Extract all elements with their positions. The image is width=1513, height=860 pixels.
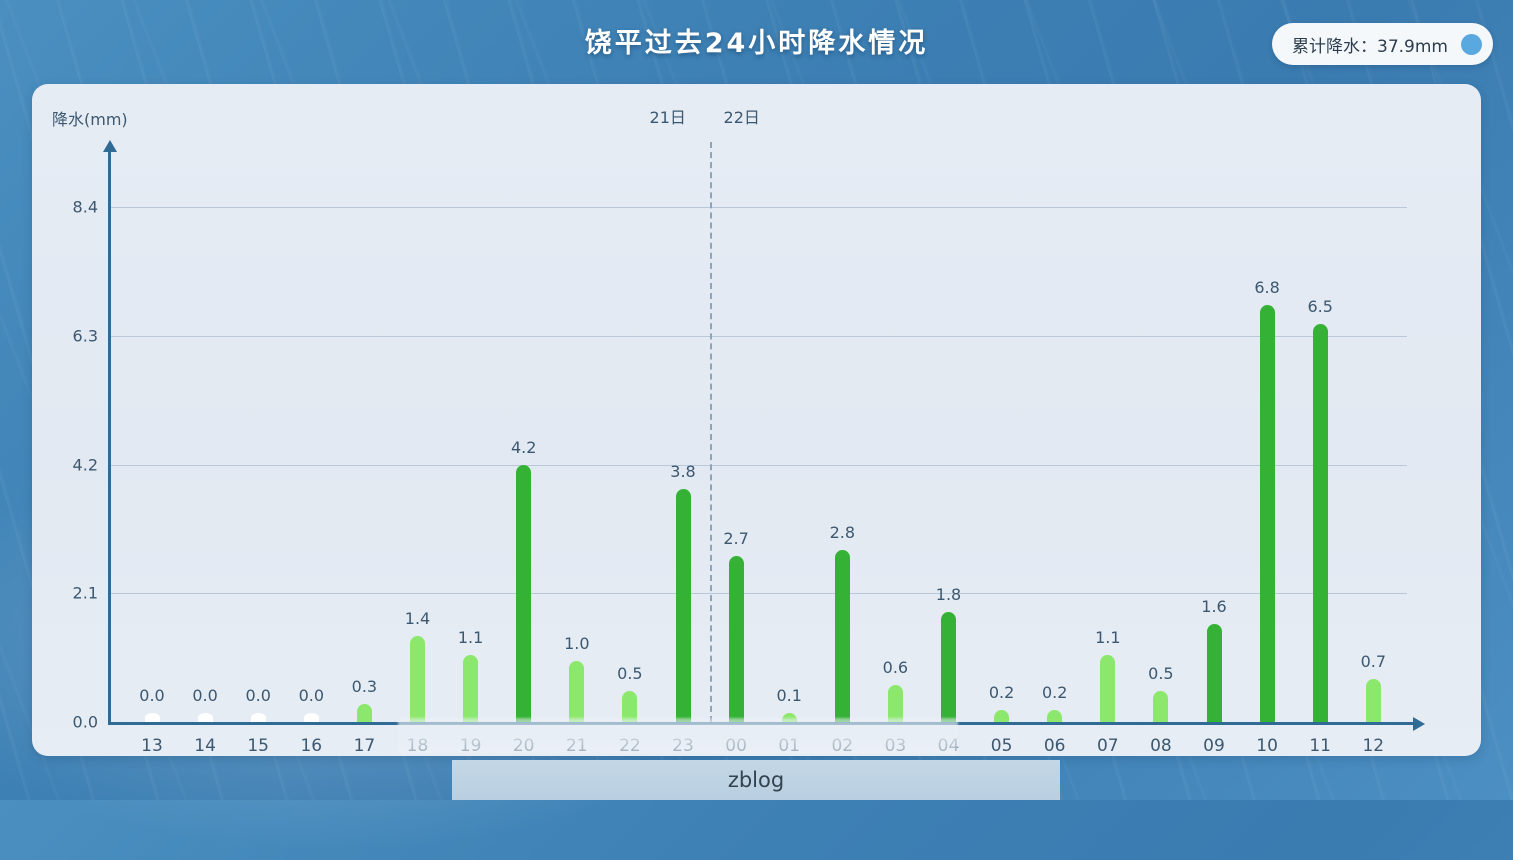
y-axis-tick-label: 0.0 xyxy=(38,713,98,732)
x-axis-tick-label[interactable]: 09 xyxy=(1203,736,1225,756)
bar-value-label: 0.7 xyxy=(1361,652,1386,671)
bar-value-label: 2.8 xyxy=(830,523,855,542)
y-axis-tick-label: 8.4 xyxy=(38,198,98,217)
x-axis-tick-label[interactable]: 13 xyxy=(141,736,163,756)
bar[interactable] xyxy=(198,713,213,722)
y-axis-tick-label: 2.1 xyxy=(38,584,98,603)
bar-value-label: 0.6 xyxy=(883,658,908,677)
bar[interactable] xyxy=(1047,710,1062,722)
x-axis-tick-label[interactable]: 19 xyxy=(460,736,482,756)
x-axis-tick-label[interactable]: 22 xyxy=(619,736,641,756)
bar[interactable] xyxy=(304,713,319,722)
y-axis-line xyxy=(108,150,111,724)
x-axis-tick-label[interactable]: 14 xyxy=(194,736,216,756)
bar[interactable] xyxy=(941,612,956,722)
bar-value-label: 0.0 xyxy=(192,686,217,705)
x-axis-tick-label[interactable]: 02 xyxy=(831,736,853,756)
cumulative-precipitation-badge[interactable]: 累计降水：37.9mm xyxy=(1272,23,1493,65)
bar[interactable] xyxy=(251,713,266,722)
bar[interactable] xyxy=(622,691,637,722)
bar[interactable] xyxy=(888,685,903,722)
x-axis-tick-label[interactable]: 12 xyxy=(1362,736,1384,756)
bar-value-label: 4.2 xyxy=(511,438,536,457)
x-axis-tick-label[interactable]: 17 xyxy=(354,736,376,756)
bar[interactable] xyxy=(782,713,797,722)
bar-value-label: 0.5 xyxy=(1148,664,1173,683)
x-axis-tick-label[interactable]: 08 xyxy=(1150,736,1172,756)
bar[interactable] xyxy=(994,710,1009,722)
x-axis-tick-label[interactable]: 21 xyxy=(566,736,588,756)
x-axis-tick-label[interactable]: 07 xyxy=(1097,736,1119,756)
bar[interactable] xyxy=(1100,655,1115,722)
bar-value-label: 0.0 xyxy=(139,686,164,705)
gridline xyxy=(108,336,1407,337)
cumulative-precipitation-label: 累计降水：37.9mm xyxy=(1292,32,1448,57)
precipitation-bar-chart: 0.02.14.26.38.421日22日0.0130.0140.0150.01… xyxy=(32,84,1481,756)
bar-value-label: 1.1 xyxy=(1095,628,1120,647)
chart-panel: 降水(mm) 0.02.14.26.38.421日22日0.0130.0140.… xyxy=(32,84,1481,756)
day-label-right: 22日 xyxy=(724,104,760,128)
x-axis-tick-label[interactable]: 23 xyxy=(672,736,694,756)
x-axis-tick-label[interactable]: 18 xyxy=(407,736,429,756)
bar[interactable] xyxy=(569,661,584,722)
x-axis-tick-label[interactable]: 15 xyxy=(247,736,269,756)
bar-value-label: 0.1 xyxy=(776,686,801,705)
bar-value-label: 0.0 xyxy=(245,686,270,705)
bar-value-label: 0.2 xyxy=(989,683,1014,702)
bar-value-label: 6.5 xyxy=(1307,297,1332,316)
bar[interactable] xyxy=(357,704,372,722)
bar-value-label: 0.0 xyxy=(299,686,324,705)
x-axis-tick-label[interactable]: 20 xyxy=(513,736,535,756)
bar[interactable] xyxy=(1153,691,1168,722)
bar[interactable] xyxy=(410,636,425,722)
bar[interactable] xyxy=(1366,679,1381,722)
watermark-banner: zblog xyxy=(452,760,1060,800)
bar[interactable] xyxy=(145,713,160,722)
gridline xyxy=(108,465,1407,466)
bar-value-label: 1.1 xyxy=(458,628,483,647)
x-axis-tick-label[interactable]: 01 xyxy=(778,736,800,756)
bar[interactable] xyxy=(676,489,691,722)
day-label-left: 21日 xyxy=(650,104,686,128)
bar-value-label: 1.0 xyxy=(564,634,589,653)
bar-value-label: 1.6 xyxy=(1201,597,1226,616)
x-axis-tick-label[interactable]: 11 xyxy=(1309,736,1331,756)
y-axis-arrow-icon xyxy=(103,140,117,152)
x-axis-tick-label[interactable]: 10 xyxy=(1256,736,1278,756)
bar[interactable] xyxy=(1260,305,1275,722)
x-axis-tick-label[interactable]: 05 xyxy=(991,736,1013,756)
bar-value-label: 2.7 xyxy=(723,529,748,548)
gridline xyxy=(108,207,1407,208)
x-axis-arrow-icon xyxy=(1413,717,1425,731)
bar-value-label: 0.3 xyxy=(352,677,377,696)
bar[interactable] xyxy=(463,655,478,722)
day-divider-line xyxy=(710,142,712,722)
x-axis-tick-label[interactable]: 00 xyxy=(725,736,747,756)
bar[interactable] xyxy=(516,465,531,722)
x-axis-tick-label[interactable]: 06 xyxy=(1044,736,1066,756)
gridline xyxy=(108,593,1407,594)
y-axis-tick-label: 4.2 xyxy=(38,455,98,474)
bar-value-label: 6.8 xyxy=(1254,278,1279,297)
bar-value-label: 0.2 xyxy=(1042,683,1067,702)
x-axis-line xyxy=(108,722,1413,725)
bar-value-label: 1.4 xyxy=(405,609,430,628)
y-axis-tick-label: 6.3 xyxy=(38,326,98,345)
bar[interactable] xyxy=(835,550,850,722)
bar[interactable] xyxy=(1207,624,1222,722)
x-axis-tick-label[interactable]: 16 xyxy=(300,736,322,756)
bar[interactable] xyxy=(1313,324,1328,722)
bar[interactable] xyxy=(729,556,744,722)
status-dot-icon xyxy=(1461,34,1482,55)
bar-value-label: 3.8 xyxy=(670,462,695,481)
x-axis-tick-label[interactable]: 04 xyxy=(938,736,960,756)
bar-value-label: 1.8 xyxy=(936,585,961,604)
bar-value-label: 0.5 xyxy=(617,664,642,683)
x-axis-tick-label[interactable]: 03 xyxy=(885,736,907,756)
